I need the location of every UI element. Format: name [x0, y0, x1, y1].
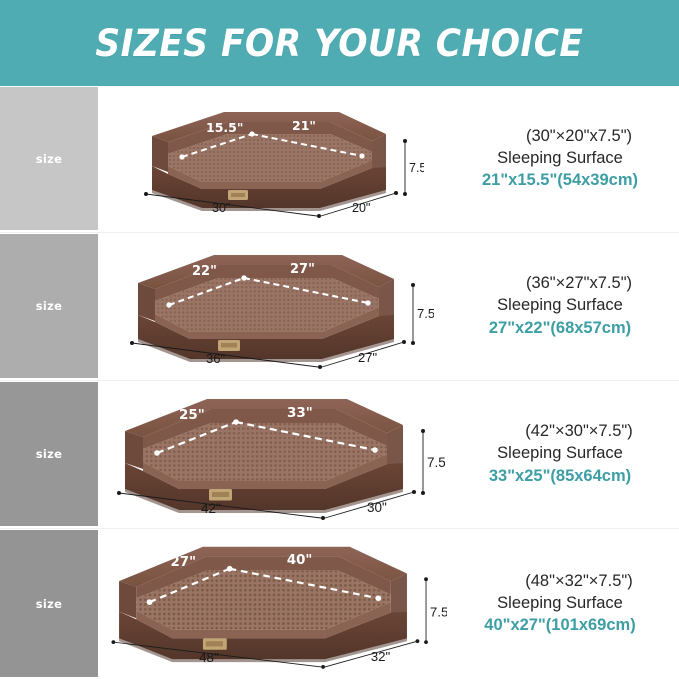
sleeping-surface-label: Sleeping Surface [497, 148, 623, 170]
depth-label: 30" [367, 500, 387, 515]
height-label: 7.5" [427, 455, 445, 470]
size-swatch-label: size [36, 152, 62, 166]
depth-label: 27" [358, 350, 377, 365]
size-swatch: size [0, 234, 98, 378]
length-label: 48" [199, 650, 219, 665]
size-swatch-label: size [36, 447, 62, 461]
length-label: 36" [206, 351, 225, 366]
header-banner: SIZES FOR YOUR CHOICE [0, 0, 679, 86]
size-swatch: size [0, 87, 98, 230]
bed-illustration-cell: 15.5" 21" 30" 20" 7.5" [100, 86, 447, 232]
sleeping-surface-value: 33"x25"(85x64cm) [489, 465, 631, 488]
size-swatch-cell: size [0, 86, 100, 232]
sleeping-surface-value: 40"x27"(101x69cm) [484, 614, 635, 637]
dog-bed-diagram: 25" 33" 42" 30" 7.5" [103, 385, 445, 525]
sleeping-surface-label: Sleeping Surface [497, 443, 623, 465]
dog-bed-diagram: 15.5" 21" 30" 20" 7.5" [124, 94, 424, 224]
inner-length-label: 27" [290, 262, 315, 277]
height-label: 7.5" [417, 306, 434, 321]
size-row: size [0, 86, 679, 233]
inner-depth-label: 25" [179, 407, 205, 423]
inner-length-label: 21" [292, 118, 316, 133]
height-label: 7.5" [430, 604, 447, 619]
sleeping-surface-label: Sleeping Surface [497, 593, 623, 615]
size-text-cell: (36"×27"x7.5") Sleeping Surface 27"x22"(… [447, 233, 679, 380]
overall-dimensions: (48"×32"×7.5") [487, 571, 632, 593]
size-swatch-cell: size [0, 381, 100, 528]
dog-bed-diagram: 22" 27" 36" 27" 7.5" [114, 239, 434, 375]
size-row: size [0, 381, 679, 529]
length-label: 42" [201, 501, 221, 516]
inner-depth-label: 22" [192, 264, 217, 279]
infographic-page: SIZES FOR YOUR CHOICE size [0, 0, 679, 679]
dog-bed-diagram: 27" 40" 48" 32" 7.5" [100, 532, 447, 676]
sleeping-surface-value: 27"x22"(68x57cm) [489, 317, 631, 340]
bed-illustration-cell: 27" 40" 48" 32" 7.5" [100, 529, 447, 679]
size-swatch-label: size [36, 597, 62, 611]
size-swatch-label: size [36, 299, 62, 313]
size-row: size [0, 529, 679, 679]
inner-length-label: 40" [287, 553, 313, 568]
depth-label: 20" [352, 201, 370, 215]
size-rows: size [0, 86, 679, 679]
size-swatch: size [0, 530, 98, 677]
sleeping-surface-value: 21"x15.5"(54x39cm) [482, 169, 638, 192]
depth-label: 32" [371, 649, 391, 664]
page-title: SIZES FOR YOUR CHOICE [95, 22, 583, 65]
size-row: size [0, 233, 679, 381]
bed-illustration-cell: 25" 33" 42" 30" 7.5" [100, 381, 447, 528]
size-swatch: size [0, 382, 98, 526]
size-text-cell: (48"×32"×7.5") Sleeping Surface 40"x27"(… [447, 529, 679, 679]
bed-illustration-cell: 22" 27" 36" 27" 7.5" [100, 233, 447, 380]
size-text-cell: (30"×20"x7.5") Sleeping Surface 21"x15.5… [447, 86, 679, 232]
inner-depth-label: 27" [171, 555, 197, 570]
sleeping-surface-label: Sleeping Surface [497, 295, 623, 317]
inner-length-label: 33" [287, 405, 313, 421]
overall-dimensions: (36"×27"x7.5") [488, 273, 632, 295]
size-swatch-cell: size [0, 233, 100, 380]
size-text-cell: (42"×30"×7.5") Sleeping Surface 33"x25"(… [447, 381, 679, 528]
overall-dimensions: (30"×20"x7.5") [488, 126, 632, 148]
size-swatch-cell: size [0, 529, 100, 679]
inner-depth-label: 15.5" [206, 120, 243, 135]
overall-dimensions: (42"×30"×7.5") [487, 421, 632, 443]
height-label: 7.5" [409, 161, 424, 175]
length-label: 30" [212, 201, 230, 215]
